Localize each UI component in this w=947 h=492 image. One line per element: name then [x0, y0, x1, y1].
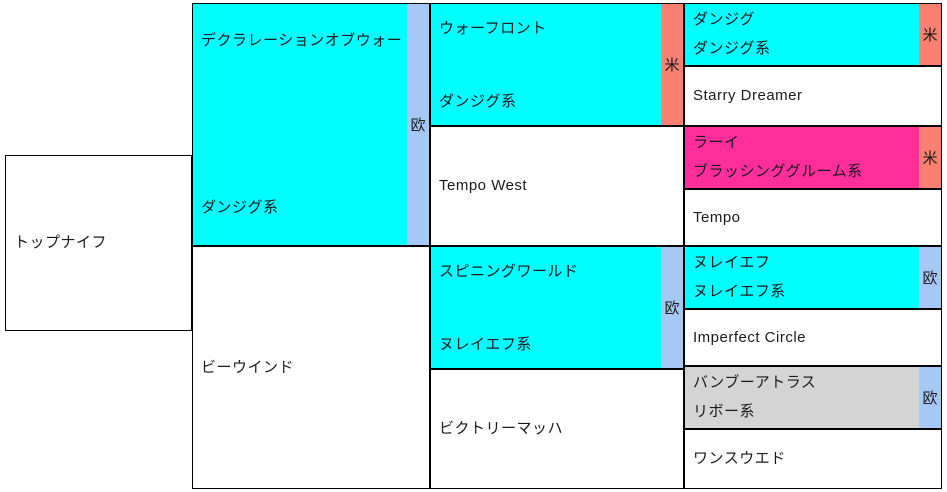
- cell-body: ダンジグ ダンジグ系: [685, 4, 919, 65]
- cell-body: バンブーアトラス リボー系: [685, 367, 919, 428]
- pedigree-cell-g3-2[interactable]: Starry Dreamer: [684, 66, 942, 126]
- cell-body: ラーイ ブラッシンググルーム系: [685, 127, 919, 188]
- pedigree-cell-g3-8[interactable]: ワンスウエド: [684, 429, 942, 489]
- sire-line: ヌレイエフ系: [685, 281, 919, 303]
- horse-name: Starry Dreamer: [685, 85, 941, 107]
- cell-body: Tempo: [685, 190, 941, 245]
- pedigree-cell-g3-4[interactable]: Tempo: [684, 189, 942, 246]
- pedigree-cell-sire-sire[interactable]: ウォーフロント ダンジグ系 米: [430, 3, 684, 126]
- pedigree-cell-root[interactable]: トップナイフ: [5, 155, 192, 331]
- sire-line: ダンジグ系: [193, 197, 407, 219]
- pedigree-cell-g3-5[interactable]: ヌレイエフ ヌレイエフ系 欧: [684, 246, 942, 309]
- horse-name: トップナイフ: [6, 232, 191, 254]
- horse-name: ヌレイエフ: [685, 252, 919, 274]
- origin-flag: 欧: [407, 4, 429, 245]
- origin-flag: 欧: [919, 247, 941, 308]
- sire-line: ブラッシンググルーム系: [685, 161, 919, 183]
- pedigree-cell-dam-sire[interactable]: スピニングワールド ヌレイエフ系 欧: [430, 246, 684, 369]
- origin-flag: 欧: [661, 247, 683, 368]
- cell-body: Imperfect Circle: [685, 310, 941, 365]
- horse-name: ダンジグ: [685, 9, 919, 31]
- horse-name: Tempo West: [431, 175, 683, 197]
- horse-name: バンブーアトラス: [685, 372, 919, 394]
- pedigree-cell-dam-dam[interactable]: ビクトリーマッハ: [430, 369, 684, 489]
- dam-body: ビーウインド: [193, 247, 429, 488]
- cell-body: ビクトリーマッハ: [431, 370, 683, 488]
- cell-body: Tempo West: [431, 127, 683, 245]
- horse-name: スピニングワールド: [431, 261, 661, 283]
- origin-flag: 米: [661, 4, 683, 125]
- horse-name: ビクトリーマッハ: [431, 418, 683, 440]
- horse-name: ウォーフロント: [431, 18, 661, 40]
- horse-name: ビーウインド: [193, 357, 429, 379]
- pedigree-cell-g3-1[interactable]: ダンジグ ダンジグ系 米: [684, 3, 942, 66]
- sire-line: ダンジグ系: [685, 38, 919, 60]
- sire-line: ダンジグ系: [431, 91, 661, 113]
- pedigree-cell-g3-6[interactable]: Imperfect Circle: [684, 309, 942, 366]
- cell-body: Starry Dreamer: [685, 67, 941, 125]
- pedigree-cell-g3-7[interactable]: バンブーアトラス リボー系 欧: [684, 366, 942, 429]
- sire-line: ヌレイエフ系: [431, 334, 661, 356]
- cell-body: ワンスウエド: [685, 430, 941, 488]
- root-body: トップナイフ: [6, 156, 191, 330]
- cell-body: ウォーフロント ダンジグ系: [431, 4, 661, 125]
- cell-body: ヌレイエフ ヌレイエフ系: [685, 247, 919, 308]
- origin-flag: 米: [919, 4, 941, 65]
- horse-name: Imperfect Circle: [685, 327, 941, 349]
- pedigree-chart: トップナイフ デクラレーションオブウォー ダンジグ系 欧 ビーウインド ウォーフ…: [0, 0, 947, 492]
- pedigree-cell-sire[interactable]: デクラレーションオブウォー ダンジグ系 欧: [192, 3, 430, 246]
- horse-name: ワンスウエド: [685, 448, 941, 470]
- horse-name: デクラレーションオブウォー: [193, 30, 407, 52]
- origin-flag: 欧: [919, 367, 941, 428]
- sire-body: デクラレーションオブウォー ダンジグ系: [193, 4, 407, 245]
- horse-name: ラーイ: [685, 132, 919, 154]
- pedigree-cell-g3-3[interactable]: ラーイ ブラッシンググルーム系 米: [684, 126, 942, 189]
- sire-line: リボー系: [685, 401, 919, 423]
- origin-flag: 米: [919, 127, 941, 188]
- cell-body: スピニングワールド ヌレイエフ系: [431, 247, 661, 368]
- horse-name: Tempo: [685, 207, 941, 229]
- pedigree-cell-sire-dam[interactable]: Tempo West: [430, 126, 684, 246]
- pedigree-cell-dam[interactable]: ビーウインド: [192, 246, 430, 489]
